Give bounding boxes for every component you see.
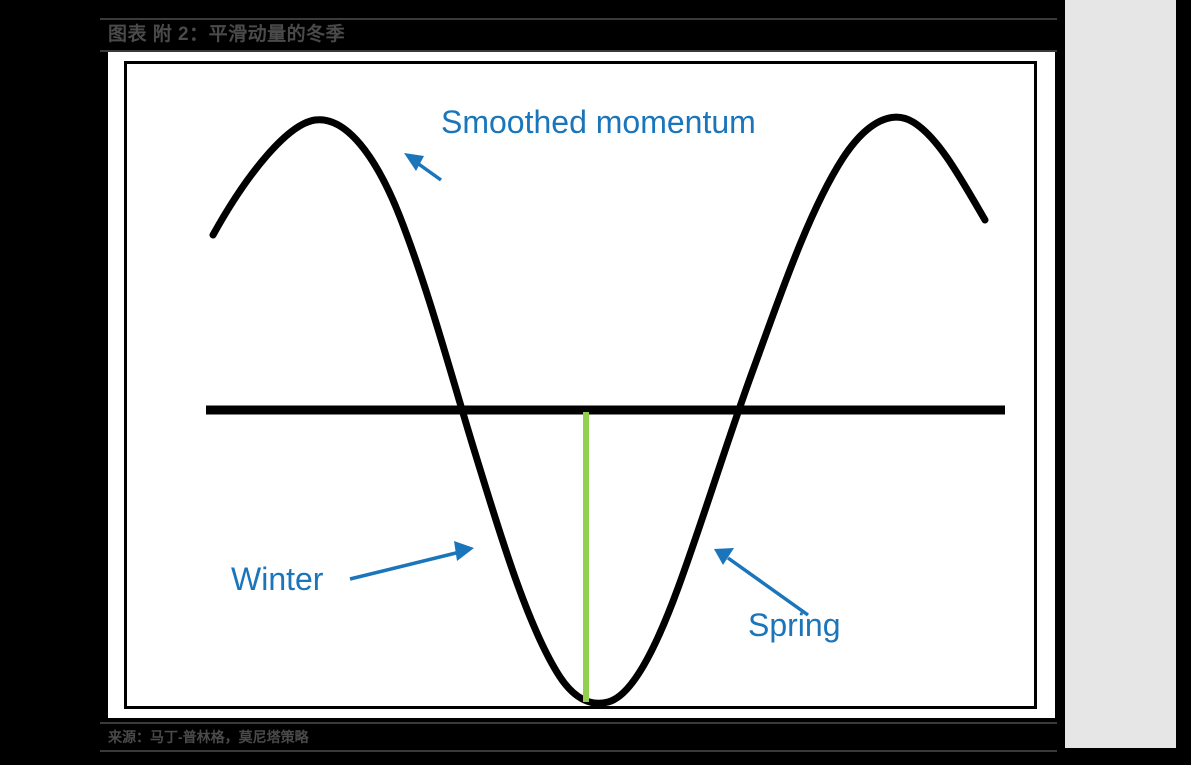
page-margin-panel (1065, 0, 1176, 748)
source-rule-top (100, 722, 1057, 724)
page-title: 图表 附 2：平滑动量的冬季 (108, 23, 345, 47)
annotation-smoothed-momentum: Smoothed momentum (441, 105, 756, 139)
smoothed-momentum-callout-arrow (404, 153, 441, 180)
source-rule-bottom (100, 750, 1057, 752)
annotation-winter: Winter (231, 562, 323, 596)
spring-callout-arrow (714, 548, 808, 615)
title-rule-top (100, 18, 1057, 20)
winter-callout-arrow (350, 541, 474, 579)
momentum-cycle-chart (108, 52, 1055, 718)
source-note: 来源：马丁-普林格，莫尼塔策略 (108, 727, 309, 747)
annotation-spring: Spring (748, 608, 841, 642)
